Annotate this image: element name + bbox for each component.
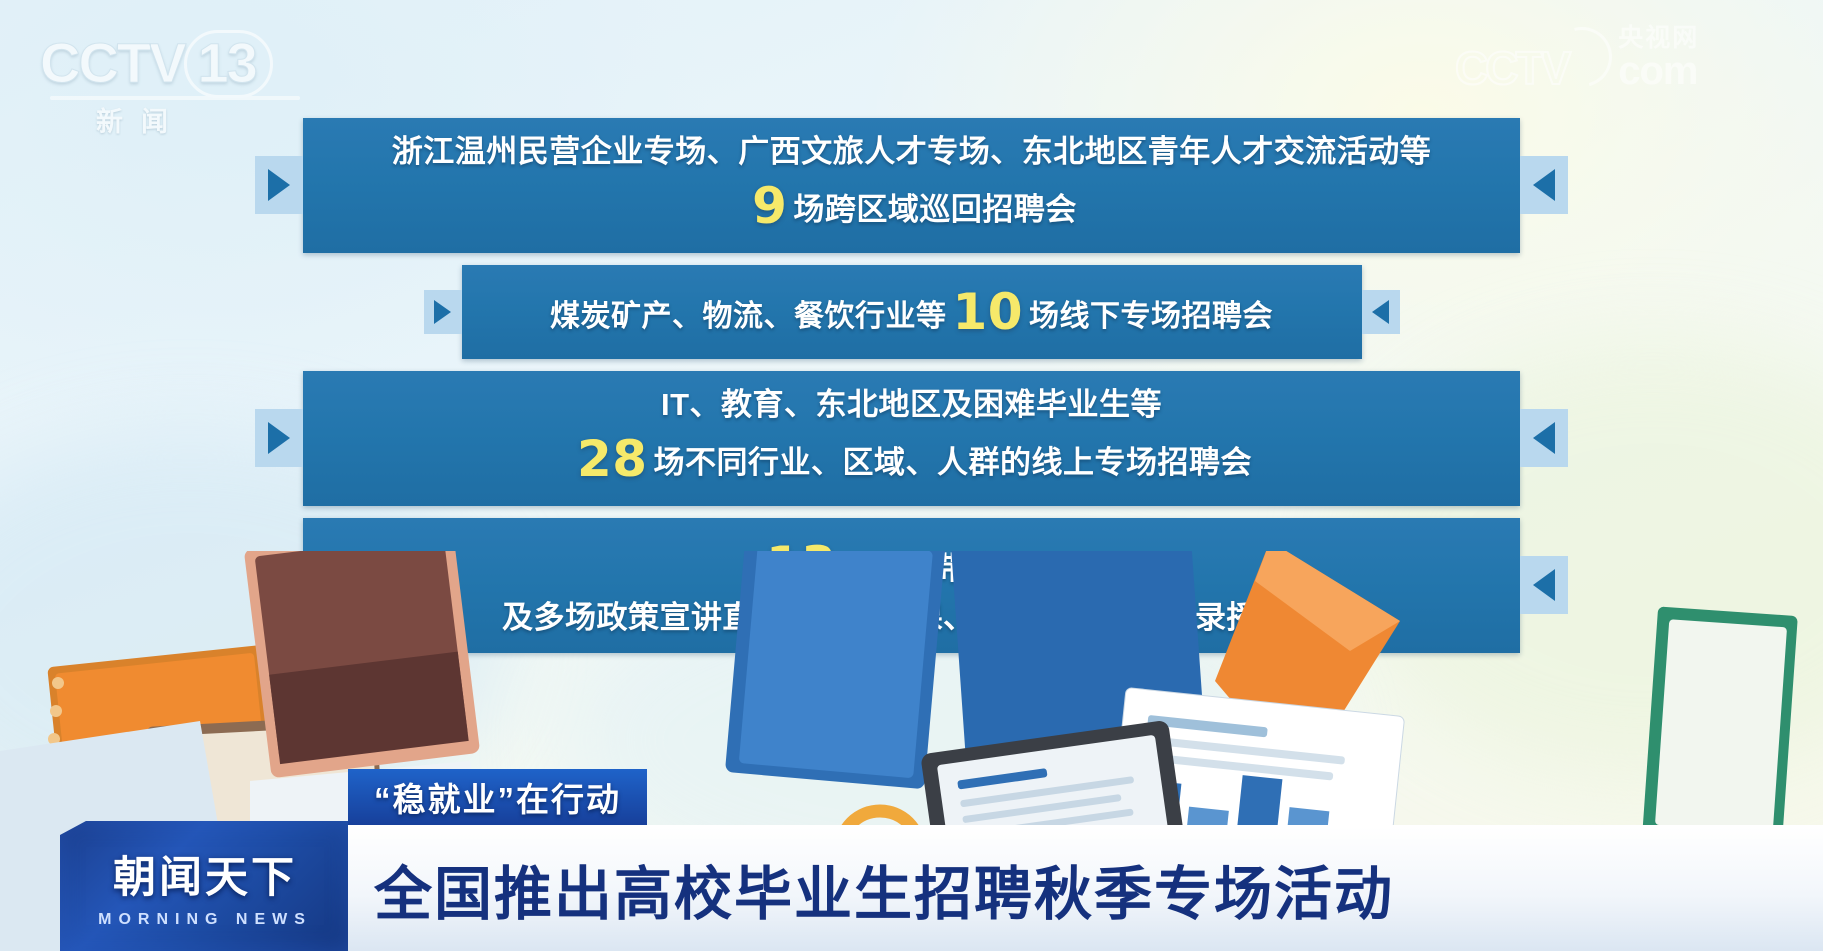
show-logo: 朝闻天下 MORNING NEWS	[60, 821, 350, 951]
info-bar-3: IT、教育、东北地区及困难毕业生等 28场不同行业、区域、人群的线上专场招聘会	[303, 371, 1520, 506]
info-bar-group: 浙江温州民营企业专场、广西文旅人才专场、东北地区青年人才交流活动等 9场跨区域巡…	[0, 118, 1823, 665]
info-bar-row-4: 13场直播带岗活动 及多场政策宣讲直播（录播）课、就业指导直播、录播课等	[0, 518, 1823, 653]
topic-tag: “稳就业”在行动	[348, 769, 647, 825]
watermark-com-text: com	[1618, 49, 1697, 93]
watermark-cctv-text: CCTV	[1455, 47, 1568, 91]
cctv-wordmark: CCTV	[40, 31, 184, 94]
info-bar-3-line-2-text: 场不同行业、区域、人群的线上专场招聘会	[654, 445, 1253, 480]
cctv-com-watermark: CCTV 央视网 com	[1455, 26, 1795, 118]
triangle-left-icon	[1520, 409, 1568, 467]
show-name-en: MORNING NEWS	[98, 911, 312, 929]
watermark-cn-text: 央视网	[1618, 24, 1699, 52]
triangle-left-icon	[1362, 290, 1400, 334]
count-value-10: 10	[946, 283, 1029, 341]
lower-third: 朝闻天下 MORNING NEWS “稳就业”在行动 全国推出高校毕业生招聘秋季…	[0, 721, 1823, 951]
info-bar-2-suffix: 场线下专场招聘会	[1029, 300, 1273, 333]
triangle-right-icon	[424, 290, 462, 334]
info-bar-2: 煤炭矿产、物流、餐饮行业等10场线下专场招聘会	[462, 265, 1362, 359]
info-bar-4: 13场直播带岗活动 及多场政策宣讲直播（录播）课、就业指导直播、录播课等	[303, 518, 1520, 653]
info-bar-2-line-1: 煤炭矿产、物流、餐饮行业等10场线下专场招聘会	[488, 279, 1336, 345]
info-bar-3-line-1: IT、教育、东北地区及困难毕业生等	[329, 385, 1494, 426]
triangle-right-icon	[255, 156, 303, 214]
logo-underline	[50, 96, 300, 100]
count-value-28: 28	[571, 430, 654, 488]
triangle-right-icon	[255, 556, 303, 614]
headline-bar: 全国推出高校毕业生招聘秋季专场活动	[348, 825, 1823, 951]
info-bar-4-line-2: 及多场政策宣讲直播（录播）课、就业指导直播、录播课等	[329, 598, 1494, 639]
show-name-cn: 朝闻天下	[113, 843, 297, 905]
triangle-right-icon	[255, 409, 303, 467]
info-bar-2-prefix: 煤炭矿产、物流、餐饮行业等	[550, 300, 947, 333]
info-bar-1: 浙江温州民营企业专场、广西文旅人才专场、东北地区青年人才交流活动等 9场跨区域巡…	[303, 118, 1520, 253]
info-bar-row-1: 浙江温州民营企业专场、广西文旅人才专场、东北地区青年人才交流活动等 9场跨区域巡…	[0, 118, 1823, 253]
count-value-13: 13	[760, 536, 843, 594]
info-bar-row-2: 煤炭矿产、物流、餐饮行业等10场线下专场招聘会	[0, 265, 1823, 359]
triangle-left-icon	[1520, 556, 1568, 614]
cctv13-channel-logo: CCTV13 新闻	[40, 30, 340, 130]
headline-text: 全国推出高校毕业生招聘秋季专场活动	[374, 847, 1394, 931]
info-bar-row-3: IT、教育、东北地区及困难毕业生等 28场不同行业、区域、人群的线上专场招聘会	[0, 371, 1823, 506]
watermark-arc-icon	[1541, 16, 1623, 98]
info-bar-4-line-1: 13场直播带岗活动	[329, 532, 1494, 598]
info-bar-1-line-1: 浙江温州民营企业专场、广西文旅人才专场、东北地区青年人才交流活动等	[329, 132, 1494, 173]
info-bar-4-line-1-text: 场直播带岗活动	[843, 551, 1064, 586]
info-bar-1-line-2: 9场跨区域巡回招聘会	[329, 173, 1494, 239]
info-bar-3-line-2: 28场不同行业、区域、人群的线上专场招聘会	[329, 426, 1494, 492]
cctv-channel-number: 13	[184, 30, 272, 98]
broadcast-frame: CCTV13 新闻 CCTV 央视网 com 浙江温州民营企业专场、广西文旅人才…	[0, 0, 1823, 951]
topic-tag-label: “稳就业”在行动	[374, 773, 621, 821]
info-bar-1-line-2-text: 场跨区域巡回招聘会	[793, 192, 1077, 227]
count-value-9: 9	[746, 177, 793, 235]
triangle-left-icon	[1520, 156, 1568, 214]
